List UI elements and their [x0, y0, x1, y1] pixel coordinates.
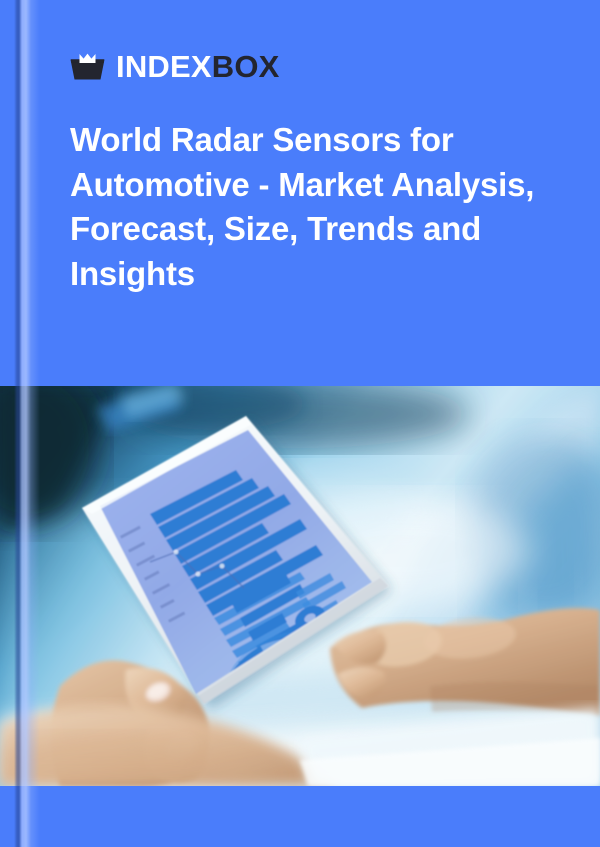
report-cover-page: INDEXBOX World Radar Sensors for Automot… — [0, 0, 600, 847]
brand-logo[interactable]: INDEXBOX — [70, 48, 280, 84]
brand-wordmark: INDEXBOX — [116, 51, 280, 82]
header-banner: INDEXBOX World Radar Sensors for Automot… — [0, 0, 600, 386]
crown-box-icon — [70, 53, 105, 80]
page-title: World Radar Sensors for Automotive - Mar… — [70, 118, 540, 296]
brand-wordmark-secondary: BOX — [212, 51, 280, 82]
hero-image — [0, 386, 600, 786]
footer-band — [0, 786, 600, 847]
brand-wordmark-primary: INDEX — [116, 51, 212, 82]
